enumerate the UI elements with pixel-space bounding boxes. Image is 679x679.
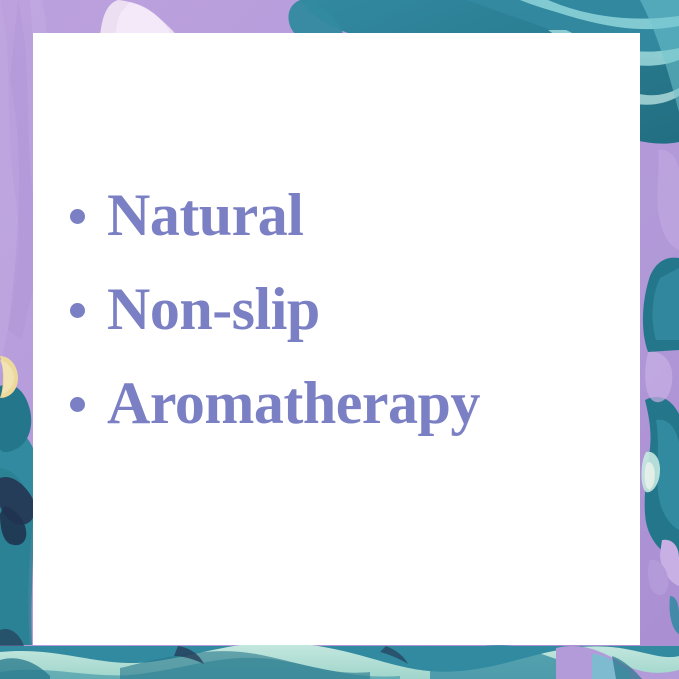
- list-item: Aromatherapy: [70, 356, 590, 450]
- feature-label: Aromatherapy: [107, 373, 480, 433]
- list-item: Natural: [70, 168, 590, 262]
- list-item: Non-slip: [70, 262, 590, 356]
- bullet-point-icon: [70, 303, 85, 318]
- product-feature-graphic: Natural Non-slip Aromatherapy: [0, 0, 679, 679]
- bullet-point-icon: [70, 397, 85, 412]
- feature-label: Non-slip: [107, 279, 320, 339]
- feature-list: Natural Non-slip Aromatherapy: [70, 168, 590, 450]
- bullet-point-icon: [70, 209, 85, 224]
- feature-label: Natural: [107, 185, 303, 245]
